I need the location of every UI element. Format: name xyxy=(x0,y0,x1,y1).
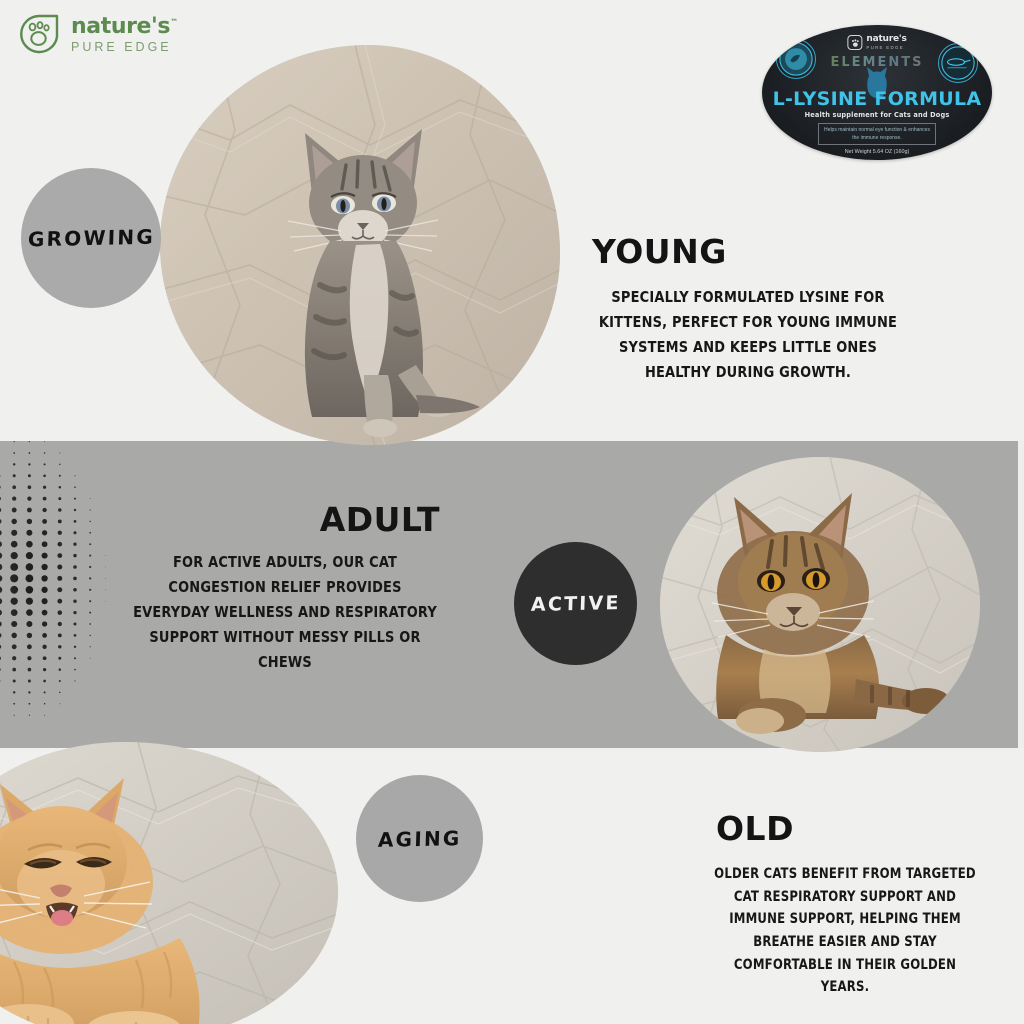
paw-leaf-icon xyxy=(16,11,62,57)
label-brand-lockup: nature's PURE EDGE xyxy=(847,35,906,50)
label-claim-box: Helps maintain normal eye function & enh… xyxy=(818,123,936,145)
trademark-symbol: ™ xyxy=(170,18,178,27)
section-adult-body: FOR ACTIVE ADULTS, OUR CAT CONGESTION RE… xyxy=(132,550,439,676)
chicken-flavored-seal-icon xyxy=(776,39,816,79)
label-product-subtitle: Health supplement for Cats and Dogs xyxy=(762,111,992,119)
senior-persian-cat-photo xyxy=(0,742,338,1024)
section-old-body: OLDER CATS BENEFIT FROM TARGETED CAT RES… xyxy=(710,863,980,999)
label-net-weight: Net Weight 5.64 OZ (160g) xyxy=(762,149,992,155)
label-product-title: L-LYSINE FORMULA xyxy=(762,88,992,110)
label-brand-name: nature's xyxy=(866,35,906,44)
adult-maine-coon-cat-photo xyxy=(660,457,980,752)
scoop-included-seal-icon xyxy=(938,43,978,83)
section-young-heading: YOUNG xyxy=(583,235,913,268)
product-label-card[interactable]: nature's PURE EDGE ELEMENTS L-LYSINE FOR… xyxy=(762,25,992,160)
label-paw-icon xyxy=(847,35,862,50)
young-tabby-kitten-photo xyxy=(160,45,560,445)
badge-aging[interactable]: AGING xyxy=(356,775,483,902)
badge-growing[interactable]: GROWING xyxy=(21,168,161,308)
label-brand-tagline: PURE EDGE xyxy=(866,46,906,50)
brand-logo: nature's™ PURE EDGE xyxy=(16,11,178,57)
infographic-canvas: nature's™ PURE EDGE xyxy=(0,0,1024,1024)
section-old-heading: OLD xyxy=(700,812,990,845)
section-adult: ADULT FOR ACTIVE ADULTS, OUR CAT CONGEST… xyxy=(120,503,450,676)
label-claim-text: Helps maintain normal eye function & enh… xyxy=(819,126,935,142)
badge-active[interactable]: ACTIVE xyxy=(514,542,637,665)
section-young-body: SPECIALLY FORMULATED LYSINE FOR KITTENS,… xyxy=(595,285,902,385)
section-old: OLD OLDER CATS BENEFIT FROM TARGETED CAT… xyxy=(700,812,990,999)
brand-name: nature's™ xyxy=(71,16,178,38)
section-young: YOUNG SPECIALLY FORMULATED LYSINE FOR KI… xyxy=(583,235,913,385)
brand-tagline: PURE EDGE xyxy=(71,41,178,54)
gray-band-right-edge xyxy=(1018,441,1024,748)
section-adult-heading: ADULT xyxy=(120,503,450,536)
